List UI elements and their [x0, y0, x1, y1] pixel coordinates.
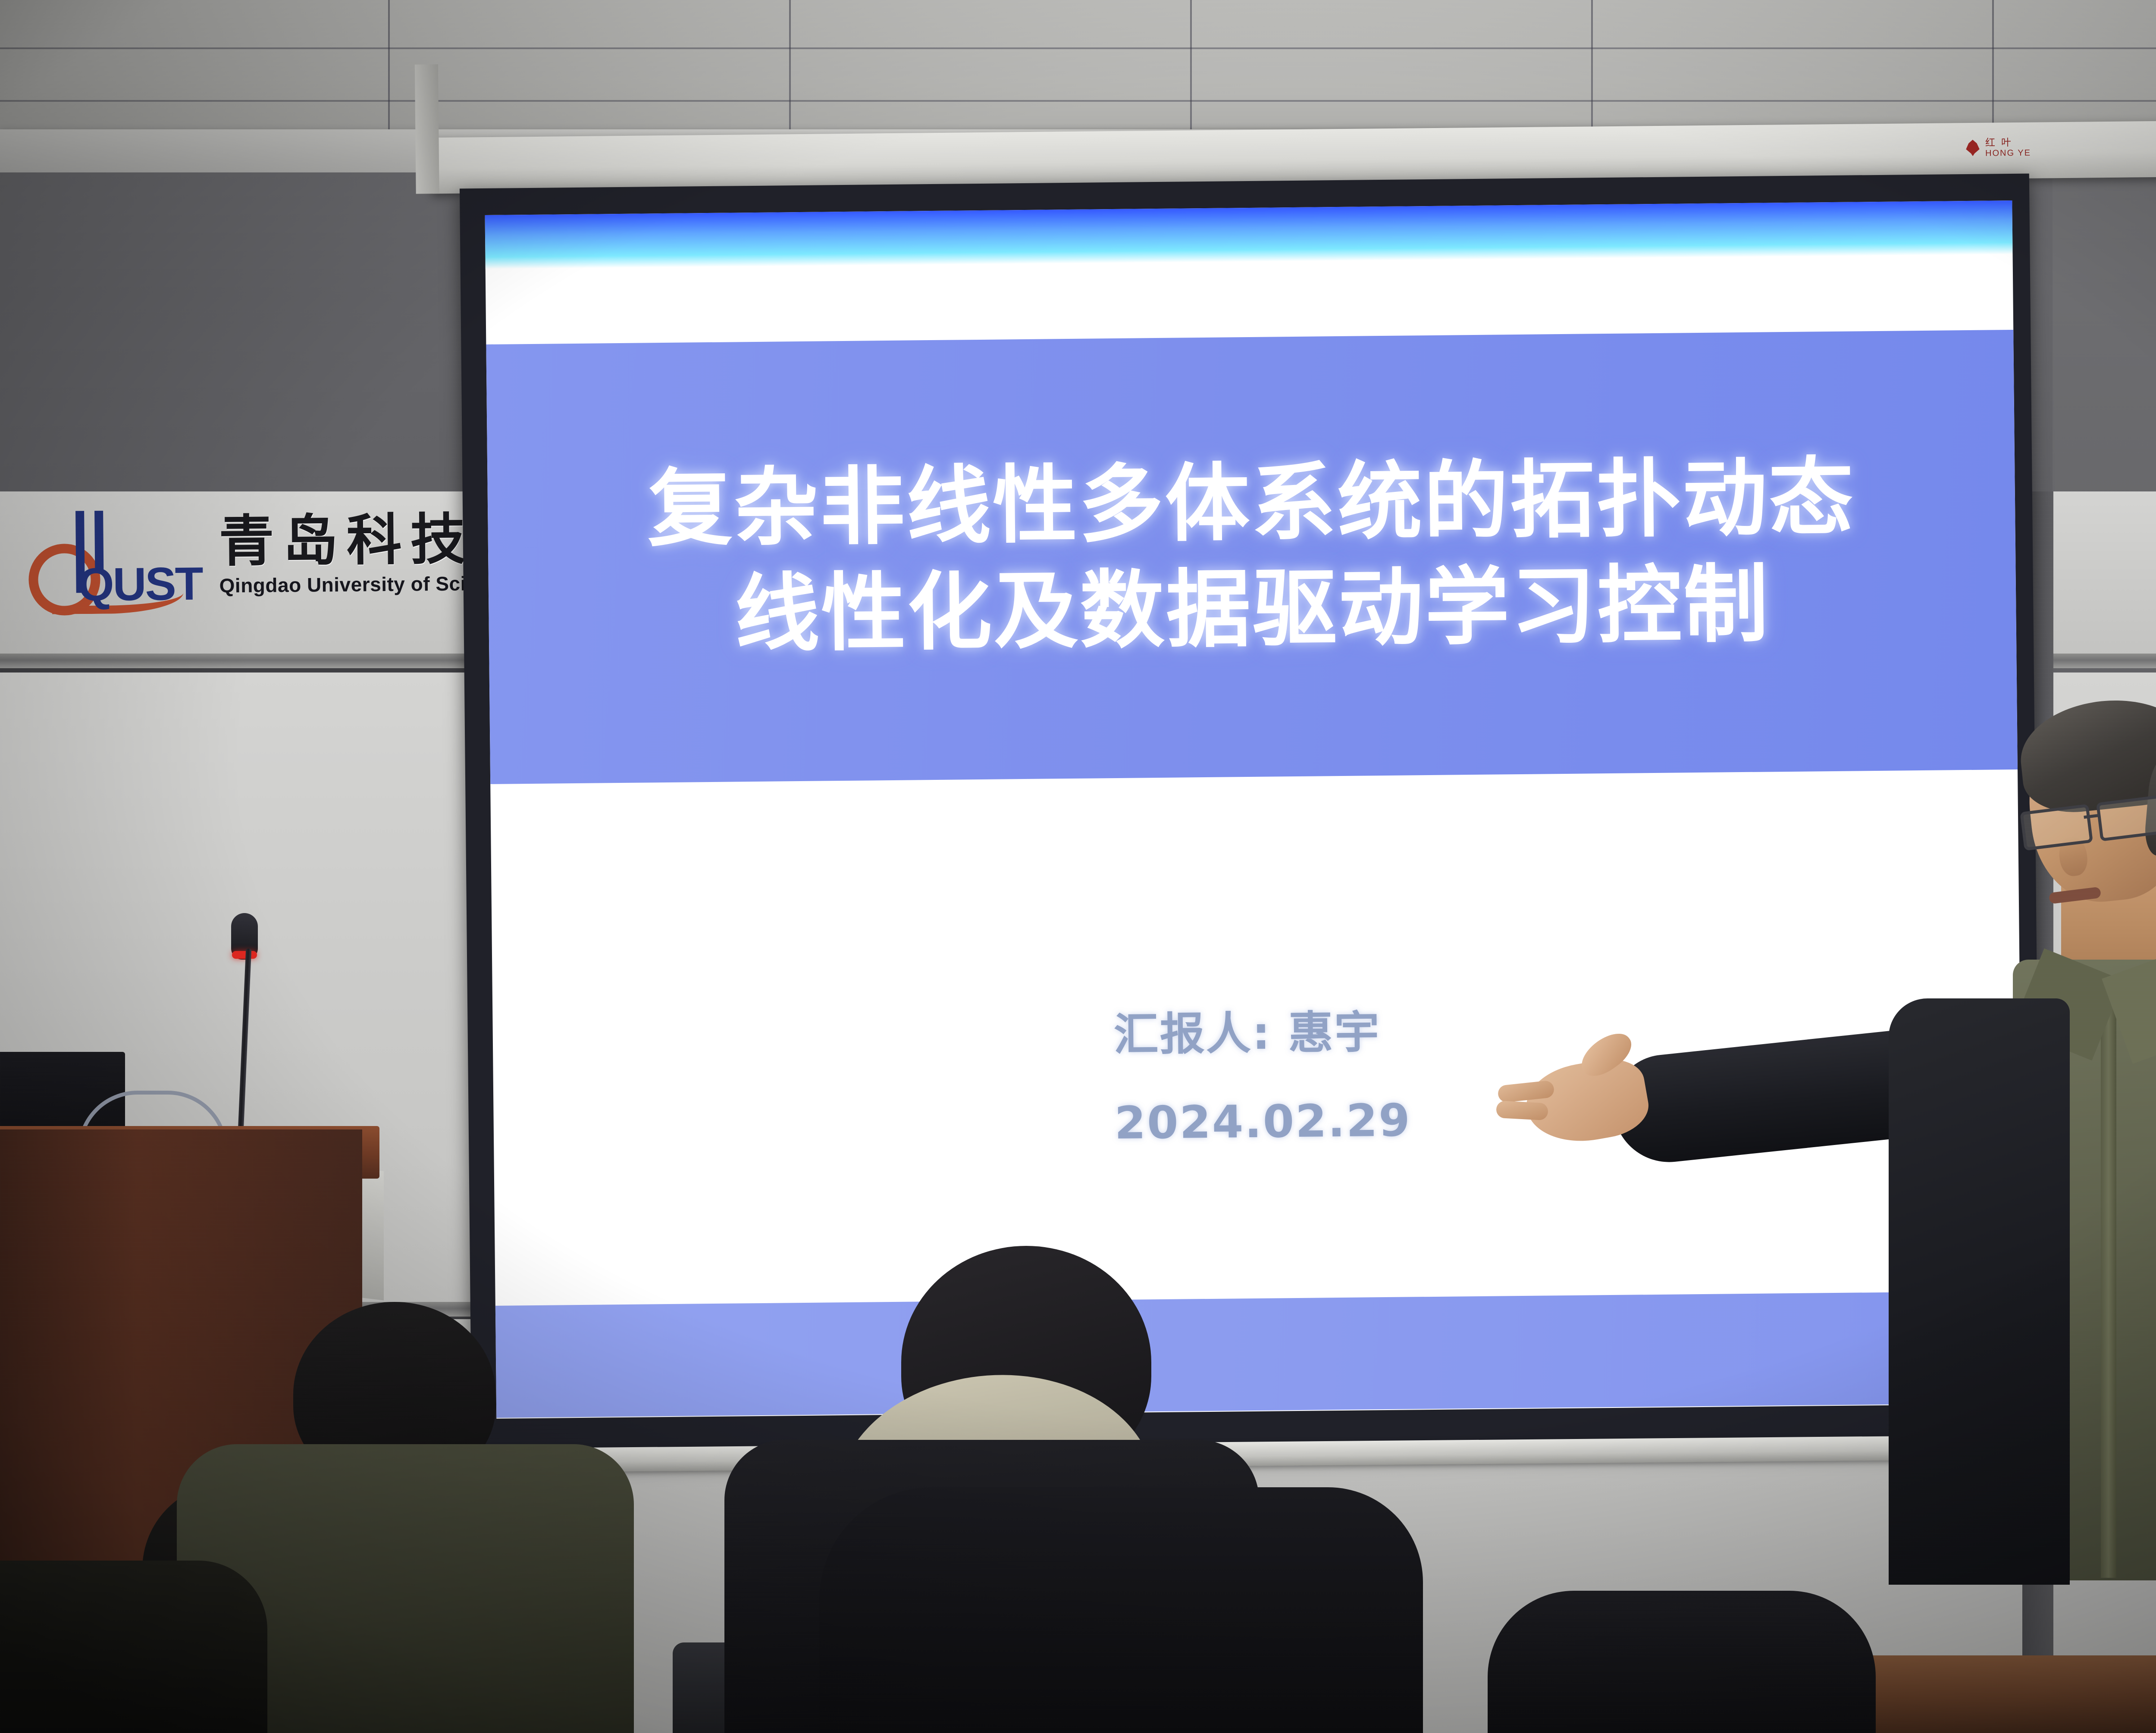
audience-torso — [0, 1561, 267, 1733]
presenter: CAA — [1906, 707, 2156, 1733]
slide-presenter-label: 汇报人: 惠宇 — [1113, 995, 1410, 1063]
ceiling-seam-vertical — [1190, 0, 1192, 142]
audience-member — [0, 1561, 267, 1733]
qust-monogram-icon: QUST — [25, 506, 194, 606]
ceiling-seam-horizontal — [0, 47, 2156, 49]
lecture-hall-photo: QUST 青岛科技大学 Qingdao University of Scienc… — [0, 0, 2156, 1733]
ceiling-seam-vertical — [1992, 0, 1994, 142]
slide-title-line-1: 复杂非线性多体系统的拓扑动态 — [647, 451, 1855, 557]
screen-brand-en: HONG YE — [1985, 148, 2031, 158]
slide-title: 复杂非线性多体系统的拓扑动态 线性化及数据驱动学习控制 — [486, 330, 2018, 784]
ceiling-seam-vertical — [388, 0, 390, 142]
ceiling-seam-vertical — [1591, 0, 1593, 142]
ceiling-seam-vertical — [789, 0, 791, 142]
audience-desk — [1841, 1655, 2156, 1733]
screen-brand-cn: 红叶 — [1985, 137, 2031, 149]
slide-title-line-2: 线性化及数据驱动学习控制 — [734, 557, 1770, 662]
audience-member — [1488, 1591, 1876, 1733]
ceiling-seam-horizontal — [0, 100, 2156, 102]
qust-acronym: QUST — [78, 557, 202, 612]
presenter-finger — [1496, 1101, 1548, 1120]
slide-surface: 复杂非线性多体系统的拓扑动态 线性化及数据驱动学习控制 汇报人: 惠宇 2024… — [485, 200, 2024, 1419]
ceiling — [0, 0, 2156, 142]
leaf-icon — [1965, 140, 1980, 156]
audience-torso — [819, 1487, 1423, 1733]
audience-torso — [1488, 1591, 1876, 1733]
casing-bracket-left — [415, 64, 439, 194]
audience-member — [819, 1487, 1423, 1733]
slide-date: 2024.02.29 — [1114, 1094, 1411, 1149]
microphone-led — [232, 951, 257, 959]
screen-brand-label: 红叶 HONG YE — [1965, 137, 2031, 159]
presenter-jacket-left — [1889, 998, 2070, 1585]
slide-meta: 汇报人: 惠宇 2024.02.29 — [1113, 995, 1411, 1149]
presenter-shirt-placket — [2101, 983, 2116, 1578]
glasses-lens-right — [2096, 795, 2156, 841]
projector-top-glow — [485, 200, 2013, 269]
